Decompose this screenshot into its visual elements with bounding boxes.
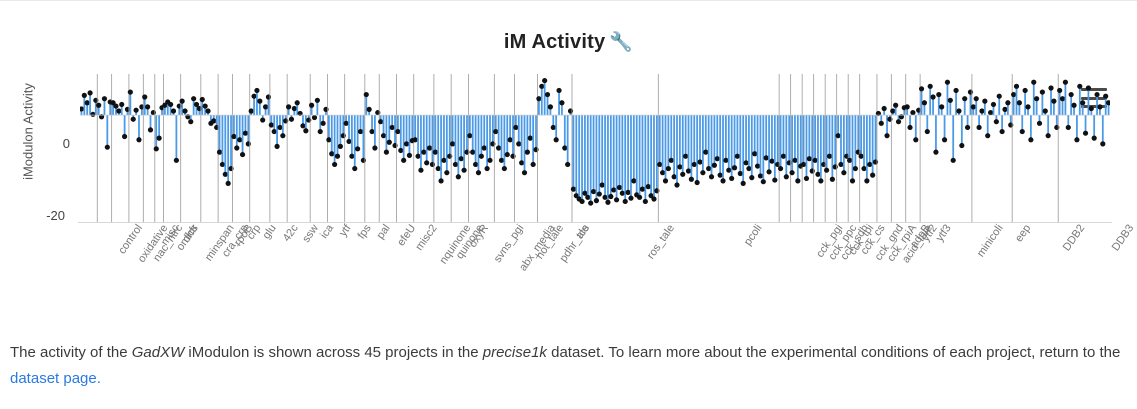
- data-point[interactable]: [243, 131, 248, 136]
- data-point[interactable]: [1023, 88, 1028, 93]
- data-point[interactable]: [539, 84, 544, 89]
- data-point[interactable]: [145, 104, 150, 109]
- data-point[interactable]: [735, 154, 740, 159]
- data-point[interactable]: [508, 137, 513, 142]
- data-point[interactable]: [1060, 96, 1065, 101]
- data-point[interactable]: [358, 129, 363, 134]
- data-point[interactable]: [827, 154, 832, 159]
- data-point[interactable]: [861, 166, 866, 171]
- data-point[interactable]: [646, 184, 651, 189]
- data-point[interactable]: [90, 112, 95, 117]
- data-point[interactable]: [792, 158, 797, 163]
- data-point[interactable]: [237, 137, 242, 142]
- data-point[interactable]: [395, 129, 400, 134]
- data-point[interactable]: [743, 160, 748, 165]
- data-point[interactable]: [672, 174, 677, 179]
- data-point[interactable]: [841, 170, 846, 175]
- data-point[interactable]: [769, 159, 774, 164]
- data-point[interactable]: [720, 178, 725, 183]
- data-point[interactable]: [1080, 100, 1085, 105]
- data-point[interactable]: [554, 137, 559, 142]
- data-point[interactable]: [571, 187, 576, 192]
- data-point[interactable]: [594, 198, 599, 203]
- data-point[interactable]: [907, 125, 912, 130]
- data-point[interactable]: [346, 139, 351, 144]
- data-point[interactable]: [1000, 129, 1005, 134]
- data-point[interactable]: [482, 145, 487, 150]
- data-point[interactable]: [976, 125, 981, 130]
- data-point[interactable]: [997, 94, 1002, 99]
- data-point[interactable]: [579, 199, 584, 204]
- data-point[interactable]: [217, 150, 222, 155]
- data-point[interactable]: [545, 92, 550, 97]
- data-point[interactable]: [459, 156, 464, 161]
- data-point[interactable]: [556, 88, 561, 93]
- data-point[interactable]: [1077, 84, 1082, 89]
- data-point[interactable]: [318, 129, 323, 134]
- data-point[interactable]: [542, 78, 547, 83]
- data-point[interactable]: [240, 152, 245, 157]
- data-point[interactable]: [608, 194, 613, 199]
- data-point[interactable]: [292, 106, 297, 111]
- data-point[interactable]: [933, 150, 938, 155]
- data-point[interactable]: [884, 133, 889, 138]
- data-point[interactable]: [962, 96, 967, 101]
- data-point[interactable]: [332, 162, 337, 167]
- data-point[interactable]: [85, 100, 90, 105]
- data-point[interactable]: [349, 154, 354, 159]
- data-point[interactable]: [1074, 137, 1079, 142]
- data-point[interactable]: [965, 125, 970, 130]
- data-point[interactable]: [289, 117, 294, 122]
- data-point[interactable]: [1100, 141, 1105, 146]
- data-point[interactable]: [623, 199, 628, 204]
- data-point[interactable]: [286, 104, 291, 109]
- data-point[interactable]: [812, 158, 817, 163]
- data-point[interactable]: [674, 182, 679, 187]
- data-point[interactable]: [815, 172, 820, 177]
- data-point[interactable]: [441, 158, 446, 163]
- data-point[interactable]: [257, 99, 262, 104]
- data-point[interactable]: [174, 158, 179, 163]
- data-point[interactable]: [896, 119, 901, 124]
- data-point[interactable]: [191, 96, 196, 101]
- data-point[interactable]: [867, 162, 872, 167]
- data-point[interactable]: [1083, 131, 1088, 136]
- data-point[interactable]: [709, 174, 714, 179]
- data-point[interactable]: [485, 166, 490, 171]
- data-point[interactable]: [922, 100, 927, 105]
- data-point[interactable]: [1086, 85, 1091, 90]
- data-point[interactable]: [119, 102, 124, 107]
- data-point[interactable]: [617, 185, 622, 190]
- data-point[interactable]: [807, 156, 812, 161]
- data-point[interactable]: [781, 154, 786, 159]
- data-point[interactable]: [985, 133, 990, 138]
- data-point[interactable]: [614, 197, 619, 202]
- data-point[interactable]: [1103, 94, 1108, 99]
- data-point[interactable]: [746, 166, 751, 171]
- data-point[interactable]: [335, 154, 340, 159]
- data-point[interactable]: [168, 102, 173, 107]
- data-point[interactable]: [830, 177, 835, 182]
- data-point[interactable]: [1057, 88, 1062, 93]
- data-point[interactable]: [715, 156, 720, 161]
- data-point[interactable]: [925, 129, 930, 134]
- data-point[interactable]: [231, 134, 236, 139]
- data-point[interactable]: [338, 144, 343, 149]
- data-point[interactable]: [82, 93, 87, 98]
- data-point[interactable]: [729, 176, 734, 181]
- data-point[interactable]: [551, 125, 556, 130]
- data-point[interactable]: [991, 102, 996, 107]
- data-point[interactable]: [269, 122, 274, 127]
- data-point[interactable]: [994, 119, 999, 124]
- data-point[interactable]: [136, 137, 141, 142]
- data-point[interactable]: [476, 170, 481, 175]
- data-point[interactable]: [804, 176, 809, 181]
- data-point[interactable]: [200, 97, 205, 102]
- data-point[interactable]: [352, 166, 357, 171]
- data-point[interactable]: [879, 121, 884, 126]
- data-point[interactable]: [913, 137, 918, 142]
- data-point[interactable]: [1071, 103, 1076, 108]
- data-point[interactable]: [559, 100, 564, 105]
- data-point[interactable]: [628, 196, 633, 201]
- data-point[interactable]: [272, 129, 277, 134]
- data-point[interactable]: [1069, 92, 1074, 97]
- data-point[interactable]: [467, 133, 472, 138]
- data-point[interactable]: [971, 104, 976, 109]
- data-point[interactable]: [640, 187, 645, 192]
- data-point[interactable]: [87, 90, 92, 95]
- data-point[interactable]: [398, 148, 403, 153]
- data-point[interactable]: [407, 153, 412, 158]
- data-point[interactable]: [669, 158, 674, 163]
- data-point[interactable]: [695, 180, 700, 185]
- data-point[interactable]: [444, 170, 449, 175]
- data-point[interactable]: [182, 108, 187, 113]
- dataset-page-link[interactable]: dataset page.: [10, 370, 101, 387]
- data-point[interactable]: [96, 103, 101, 108]
- data-point[interactable]: [789, 170, 794, 175]
- data-point[interactable]: [519, 160, 524, 165]
- data-point[interactable]: [473, 162, 478, 167]
- data-point[interactable]: [625, 190, 630, 195]
- data-point[interactable]: [588, 200, 593, 205]
- data-point[interactable]: [1051, 99, 1056, 104]
- data-point[interactable]: [102, 96, 107, 101]
- data-point[interactable]: [378, 119, 383, 124]
- data-point[interactable]: [847, 158, 852, 163]
- data-point[interactable]: [321, 121, 326, 126]
- data-point[interactable]: [597, 191, 602, 196]
- data-point[interactable]: [772, 177, 777, 182]
- data-point[interactable]: [784, 174, 789, 179]
- data-point[interactable]: [1048, 85, 1053, 90]
- data-point[interactable]: [712, 163, 717, 168]
- data-point[interactable]: [620, 191, 625, 196]
- data-point[interactable]: [372, 145, 377, 150]
- data-point[interactable]: [1028, 137, 1033, 142]
- data-point[interactable]: [752, 151, 757, 156]
- data-point[interactable]: [277, 125, 282, 130]
- data-point[interactable]: [427, 145, 432, 150]
- data-point[interactable]: [479, 154, 484, 159]
- data-point[interactable]: [105, 145, 110, 150]
- data-point[interactable]: [692, 162, 697, 167]
- data-point[interactable]: [387, 140, 392, 145]
- data-point[interactable]: [864, 178, 869, 183]
- data-point[interactable]: [171, 108, 176, 113]
- data-point[interactable]: [749, 175, 754, 180]
- data-point[interactable]: [637, 195, 642, 200]
- data-point[interactable]: [680, 172, 685, 177]
- data-point[interactable]: [1017, 100, 1022, 105]
- data-point[interactable]: [249, 108, 254, 113]
- data-point[interactable]: [778, 166, 783, 171]
- data-point[interactable]: [660, 170, 665, 175]
- data-point[interactable]: [936, 92, 941, 97]
- data-point[interactable]: [956, 108, 961, 113]
- data-point[interactable]: [502, 166, 507, 171]
- data-point[interactable]: [723, 158, 728, 163]
- data-point[interactable]: [643, 199, 648, 204]
- data-point[interactable]: [605, 200, 610, 205]
- data-point[interactable]: [128, 89, 133, 94]
- data-point[interactable]: [424, 160, 429, 165]
- data-point[interactable]: [697, 159, 702, 164]
- data-point[interactable]: [677, 164, 682, 169]
- data-point[interactable]: [1034, 96, 1039, 101]
- data-point[interactable]: [838, 162, 843, 167]
- data-point[interactable]: [859, 154, 864, 159]
- data-point[interactable]: [683, 154, 688, 159]
- data-point[interactable]: [499, 158, 504, 163]
- data-point[interactable]: [220, 162, 225, 167]
- data-point[interactable]: [315, 98, 320, 103]
- data-point[interactable]: [1092, 136, 1097, 141]
- data-point[interactable]: [528, 136, 533, 141]
- data-point[interactable]: [666, 166, 671, 171]
- data-point[interactable]: [450, 141, 455, 146]
- data-point[interactable]: [384, 150, 389, 155]
- data-point[interactable]: [1020, 129, 1025, 134]
- data-point[interactable]: [741, 181, 746, 186]
- data-point[interactable]: [982, 99, 987, 104]
- data-point[interactable]: [369, 129, 374, 134]
- data-point[interactable]: [260, 117, 265, 122]
- data-point[interactable]: [686, 168, 691, 173]
- data-point[interactable]: [565, 162, 570, 167]
- data-point[interactable]: [1025, 104, 1030, 109]
- data-point[interactable]: [516, 141, 521, 146]
- data-point[interactable]: [631, 178, 636, 183]
- data-point[interactable]: [974, 96, 979, 101]
- data-point[interactable]: [1097, 104, 1102, 109]
- data-point[interactable]: [1040, 89, 1045, 94]
- data-point[interactable]: [536, 96, 541, 101]
- data-point[interactable]: [274, 144, 279, 149]
- data-point[interactable]: [390, 125, 395, 130]
- data-point[interactable]: [188, 119, 193, 124]
- data-point[interactable]: [930, 94, 935, 99]
- data-point[interactable]: [1005, 100, 1010, 105]
- data-point[interactable]: [401, 158, 406, 163]
- data-point[interactable]: [548, 104, 553, 109]
- data-point[interactable]: [113, 103, 118, 108]
- data-point[interactable]: [801, 162, 806, 167]
- data-point[interactable]: [1043, 108, 1048, 113]
- data-point[interactable]: [755, 163, 760, 168]
- data-point[interactable]: [180, 99, 185, 104]
- data-point[interactable]: [882, 106, 887, 111]
- data-point[interactable]: [223, 172, 228, 177]
- data-point[interactable]: [226, 181, 231, 186]
- data-point[interactable]: [364, 92, 369, 97]
- data-point[interactable]: [951, 158, 956, 163]
- data-point[interactable]: [493, 129, 498, 134]
- data-point[interactable]: [979, 108, 984, 113]
- data-point[interactable]: [1063, 80, 1068, 85]
- data-point[interactable]: [234, 145, 239, 150]
- data-point[interactable]: [657, 162, 662, 167]
- data-point[interactable]: [329, 151, 334, 156]
- data-point[interactable]: [254, 88, 259, 93]
- data-point[interactable]: [585, 195, 590, 200]
- data-point[interactable]: [1014, 84, 1019, 89]
- data-point[interactable]: [205, 108, 210, 113]
- data-point[interactable]: [919, 86, 924, 91]
- data-point[interactable]: [764, 155, 769, 160]
- data-point[interactable]: [824, 168, 829, 173]
- data-point[interactable]: [836, 133, 841, 138]
- data-point[interactable]: [1031, 80, 1036, 85]
- data-point[interactable]: [203, 103, 208, 108]
- data-point[interactable]: [413, 137, 418, 142]
- data-point[interactable]: [939, 104, 944, 109]
- data-point[interactable]: [942, 137, 947, 142]
- data-point[interactable]: [295, 100, 300, 105]
- data-point[interactable]: [663, 178, 668, 183]
- data-point[interactable]: [738, 171, 743, 176]
- data-point[interactable]: [470, 150, 475, 155]
- data-point[interactable]: [436, 166, 441, 171]
- data-point[interactable]: [1094, 92, 1099, 97]
- data-point[interactable]: [795, 178, 800, 183]
- data-point[interactable]: [326, 137, 331, 142]
- data-point[interactable]: [850, 178, 855, 183]
- data-point[interactable]: [1002, 107, 1007, 112]
- data-point[interactable]: [453, 162, 458, 167]
- data-point[interactable]: [116, 108, 121, 113]
- data-point[interactable]: [344, 121, 349, 126]
- data-point[interactable]: [300, 123, 305, 128]
- data-point[interactable]: [148, 127, 153, 132]
- data-point[interactable]: [945, 80, 950, 85]
- data-point[interactable]: [928, 84, 933, 89]
- data-point[interactable]: [562, 145, 567, 150]
- data-point[interactable]: [689, 177, 694, 182]
- data-point[interactable]: [525, 150, 530, 155]
- data-point[interactable]: [367, 107, 372, 112]
- data-point[interactable]: [761, 179, 766, 184]
- data-point[interactable]: [905, 104, 910, 109]
- data-point[interactable]: [433, 150, 438, 155]
- data-point[interactable]: [415, 154, 420, 159]
- data-point[interactable]: [461, 168, 466, 173]
- data-point[interactable]: [703, 150, 708, 155]
- data-point[interactable]: [893, 103, 898, 108]
- data-point[interactable]: [418, 168, 423, 173]
- data-point[interactable]: [522, 170, 527, 175]
- data-point[interactable]: [948, 98, 953, 103]
- data-point[interactable]: [505, 152, 510, 157]
- data-point[interactable]: [718, 173, 723, 178]
- data-point[interactable]: [404, 141, 409, 146]
- data-point[interactable]: [312, 115, 317, 120]
- data-point[interactable]: [211, 118, 216, 123]
- data-point[interactable]: [732, 165, 737, 170]
- data-point[interactable]: [309, 103, 314, 108]
- data-point[interactable]: [251, 94, 256, 99]
- data-point[interactable]: [355, 146, 360, 151]
- data-point[interactable]: [953, 88, 958, 93]
- data-point[interactable]: [766, 169, 771, 174]
- data-point[interactable]: [142, 94, 147, 99]
- data-point[interactable]: [726, 168, 731, 173]
- data-point[interactable]: [157, 136, 162, 141]
- data-point[interactable]: [959, 143, 964, 148]
- data-point[interactable]: [651, 196, 656, 201]
- data-point[interactable]: [421, 150, 426, 155]
- stem-plot-svg[interactable]: [80, 74, 1110, 222]
- data-point[interactable]: [513, 125, 518, 130]
- data-point[interactable]: [134, 108, 139, 113]
- data-point[interactable]: [910, 110, 915, 115]
- data-point[interactable]: [1046, 133, 1051, 138]
- data-point[interactable]: [456, 174, 461, 179]
- data-point[interactable]: [591, 189, 596, 194]
- data-point[interactable]: [988, 110, 993, 115]
- data-point[interactable]: [870, 173, 875, 178]
- data-point[interactable]: [280, 133, 285, 138]
- data-point[interactable]: [890, 108, 895, 113]
- data-point[interactable]: [303, 128, 308, 133]
- data-point[interactable]: [706, 166, 711, 171]
- data-point[interactable]: [853, 166, 858, 171]
- data-point[interactable]: [122, 134, 127, 139]
- data-point[interactable]: [438, 178, 443, 183]
- data-point[interactable]: [600, 182, 605, 187]
- data-point[interactable]: [496, 145, 501, 150]
- data-point[interactable]: [1066, 125, 1071, 130]
- data-point[interactable]: [818, 178, 823, 183]
- data-point[interactable]: [611, 187, 616, 192]
- data-point[interactable]: [602, 195, 607, 200]
- data-point[interactable]: [154, 146, 159, 151]
- data-point[interactable]: [131, 117, 136, 122]
- data-point[interactable]: [487, 158, 492, 163]
- data-point[interactable]: [381, 133, 386, 138]
- data-point[interactable]: [758, 173, 763, 178]
- data-point[interactable]: [1037, 121, 1042, 126]
- data-point[interactable]: [531, 162, 536, 167]
- data-point[interactable]: [263, 104, 268, 109]
- data-point[interactable]: [1089, 106, 1094, 111]
- data-point[interactable]: [1011, 92, 1016, 97]
- data-point[interactable]: [700, 170, 705, 175]
